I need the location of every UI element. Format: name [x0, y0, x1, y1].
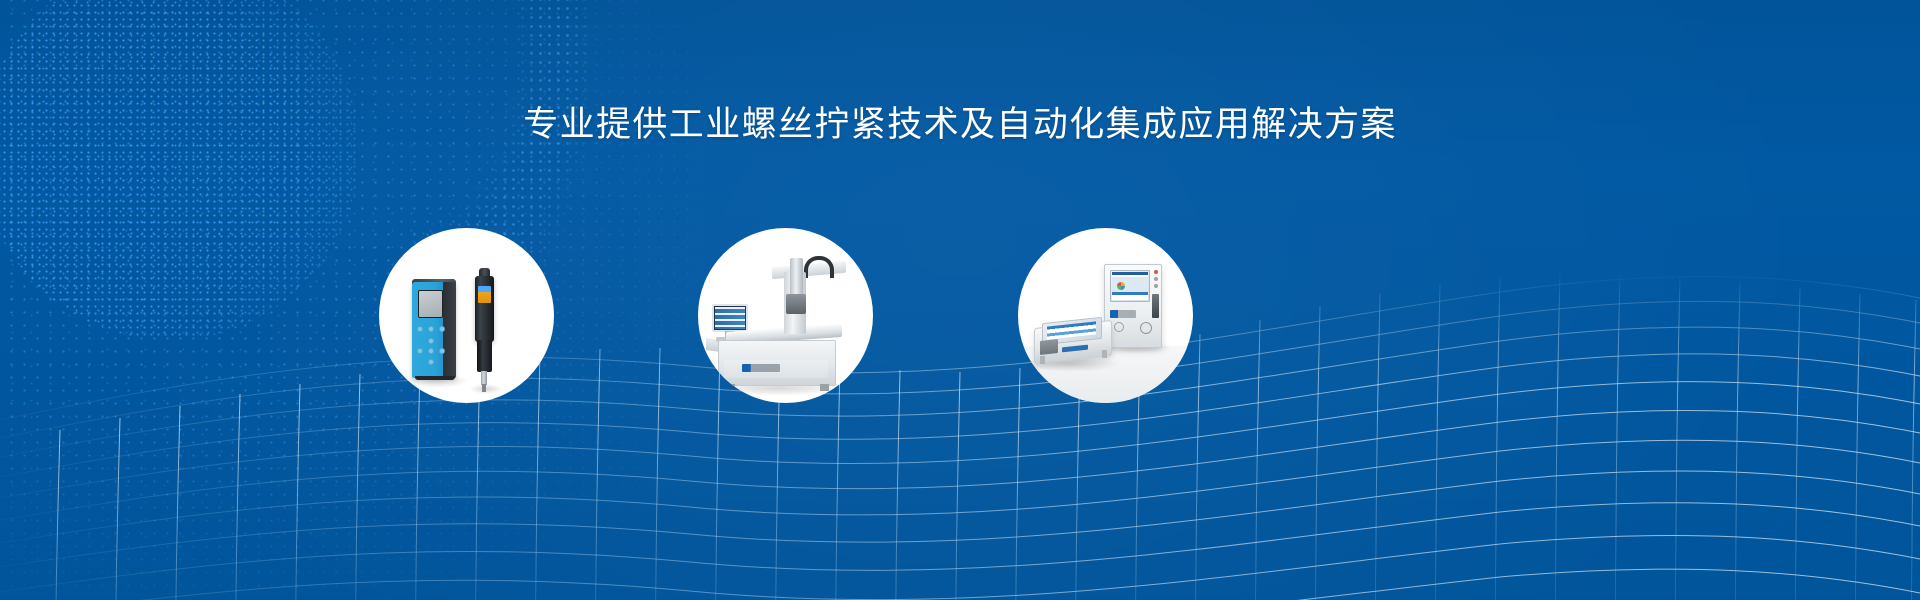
hero-banner: 专业提供工业螺丝拧紧技术及自动化集成应用解决方案: [0, 0, 1920, 600]
gauge-icon: [1117, 282, 1125, 290]
knob-icon: [1114, 322, 1124, 332]
brand-logo-icon: [742, 364, 780, 372]
screwdriver-controller-image: [379, 228, 554, 403]
product-circle-2[interactable]: [698, 228, 873, 403]
knob-icon: [1140, 322, 1152, 334]
gantry-robot-image: [698, 228, 873, 403]
status-led-icon: [1154, 277, 1158, 281]
cabinet-foot-icon: [820, 384, 829, 391]
screwdriver-tip-icon: [482, 384, 486, 392]
page-title: 专业提供工业螺丝拧紧技术及自动化集成应用解决方案: [0, 96, 1920, 147]
shadow: [469, 384, 503, 394]
gantry-z-arm-icon: [790, 258, 803, 298]
vent-strip-icon: [1152, 294, 1159, 318]
brand-logo-icon: [1110, 310, 1136, 318]
controller-screen-icon: [418, 290, 443, 318]
screwdriver-display-icon: [478, 286, 491, 303]
screwdriver-grip-icon: [477, 340, 492, 372]
status-led-icon: [1154, 284, 1158, 288]
card-slot-icon: [1040, 339, 1058, 355]
product-circle-3[interactable]: [1018, 228, 1193, 403]
unit-foot-icon: [1102, 350, 1107, 358]
product-circle-row: [0, 228, 1920, 408]
product-circle-1[interactable]: [379, 228, 554, 403]
screw-locking-head-icon: [786, 294, 806, 314]
status-led-icon: [1154, 270, 1158, 274]
cabinet-foot-icon: [726, 384, 735, 391]
controller-base-icon: [415, 376, 455, 380]
controller-keypad-icon: [417, 326, 445, 368]
control-terminal-image: [1018, 228, 1193, 403]
cable-carrier-icon: [804, 256, 834, 278]
monitor-screen-icon: [715, 307, 745, 329]
screwdriver-bit-icon: [481, 371, 487, 385]
unit-foot-icon: [1040, 356, 1045, 364]
